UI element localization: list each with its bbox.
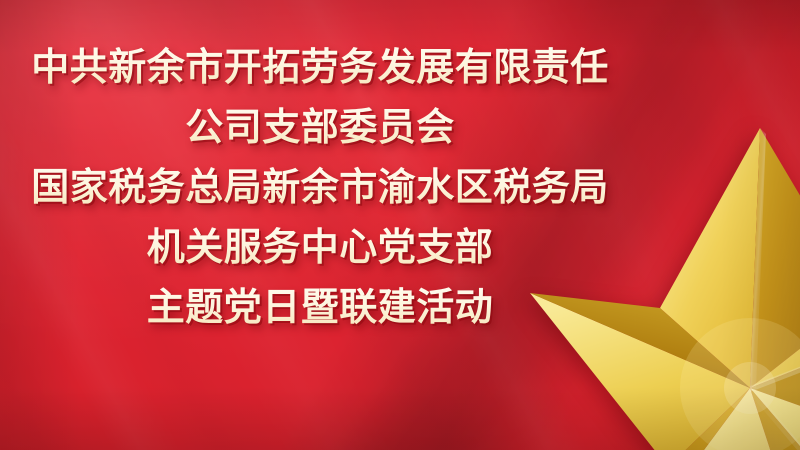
title-line-4: 机关服务中心党支部: [0, 218, 640, 278]
title-line-3: 国家税务总局新余市渝水区税务局: [0, 158, 640, 218]
banner-canvas: 中共新余市开拓劳务发展有限责任 公司支部委员会 国家税务总局新余市渝水区税务局 …: [0, 0, 800, 450]
banner-title-block: 中共新余市开拓劳务发展有限责任 公司支部委员会 国家税务总局新余市渝水区税务局 …: [0, 38, 640, 338]
title-line-1: 中共新余市开拓劳务发展有限责任: [0, 38, 640, 98]
title-line-2: 公司支部委员会: [0, 98, 640, 158]
title-line-5: 主题党日暨联建活动: [0, 278, 640, 338]
